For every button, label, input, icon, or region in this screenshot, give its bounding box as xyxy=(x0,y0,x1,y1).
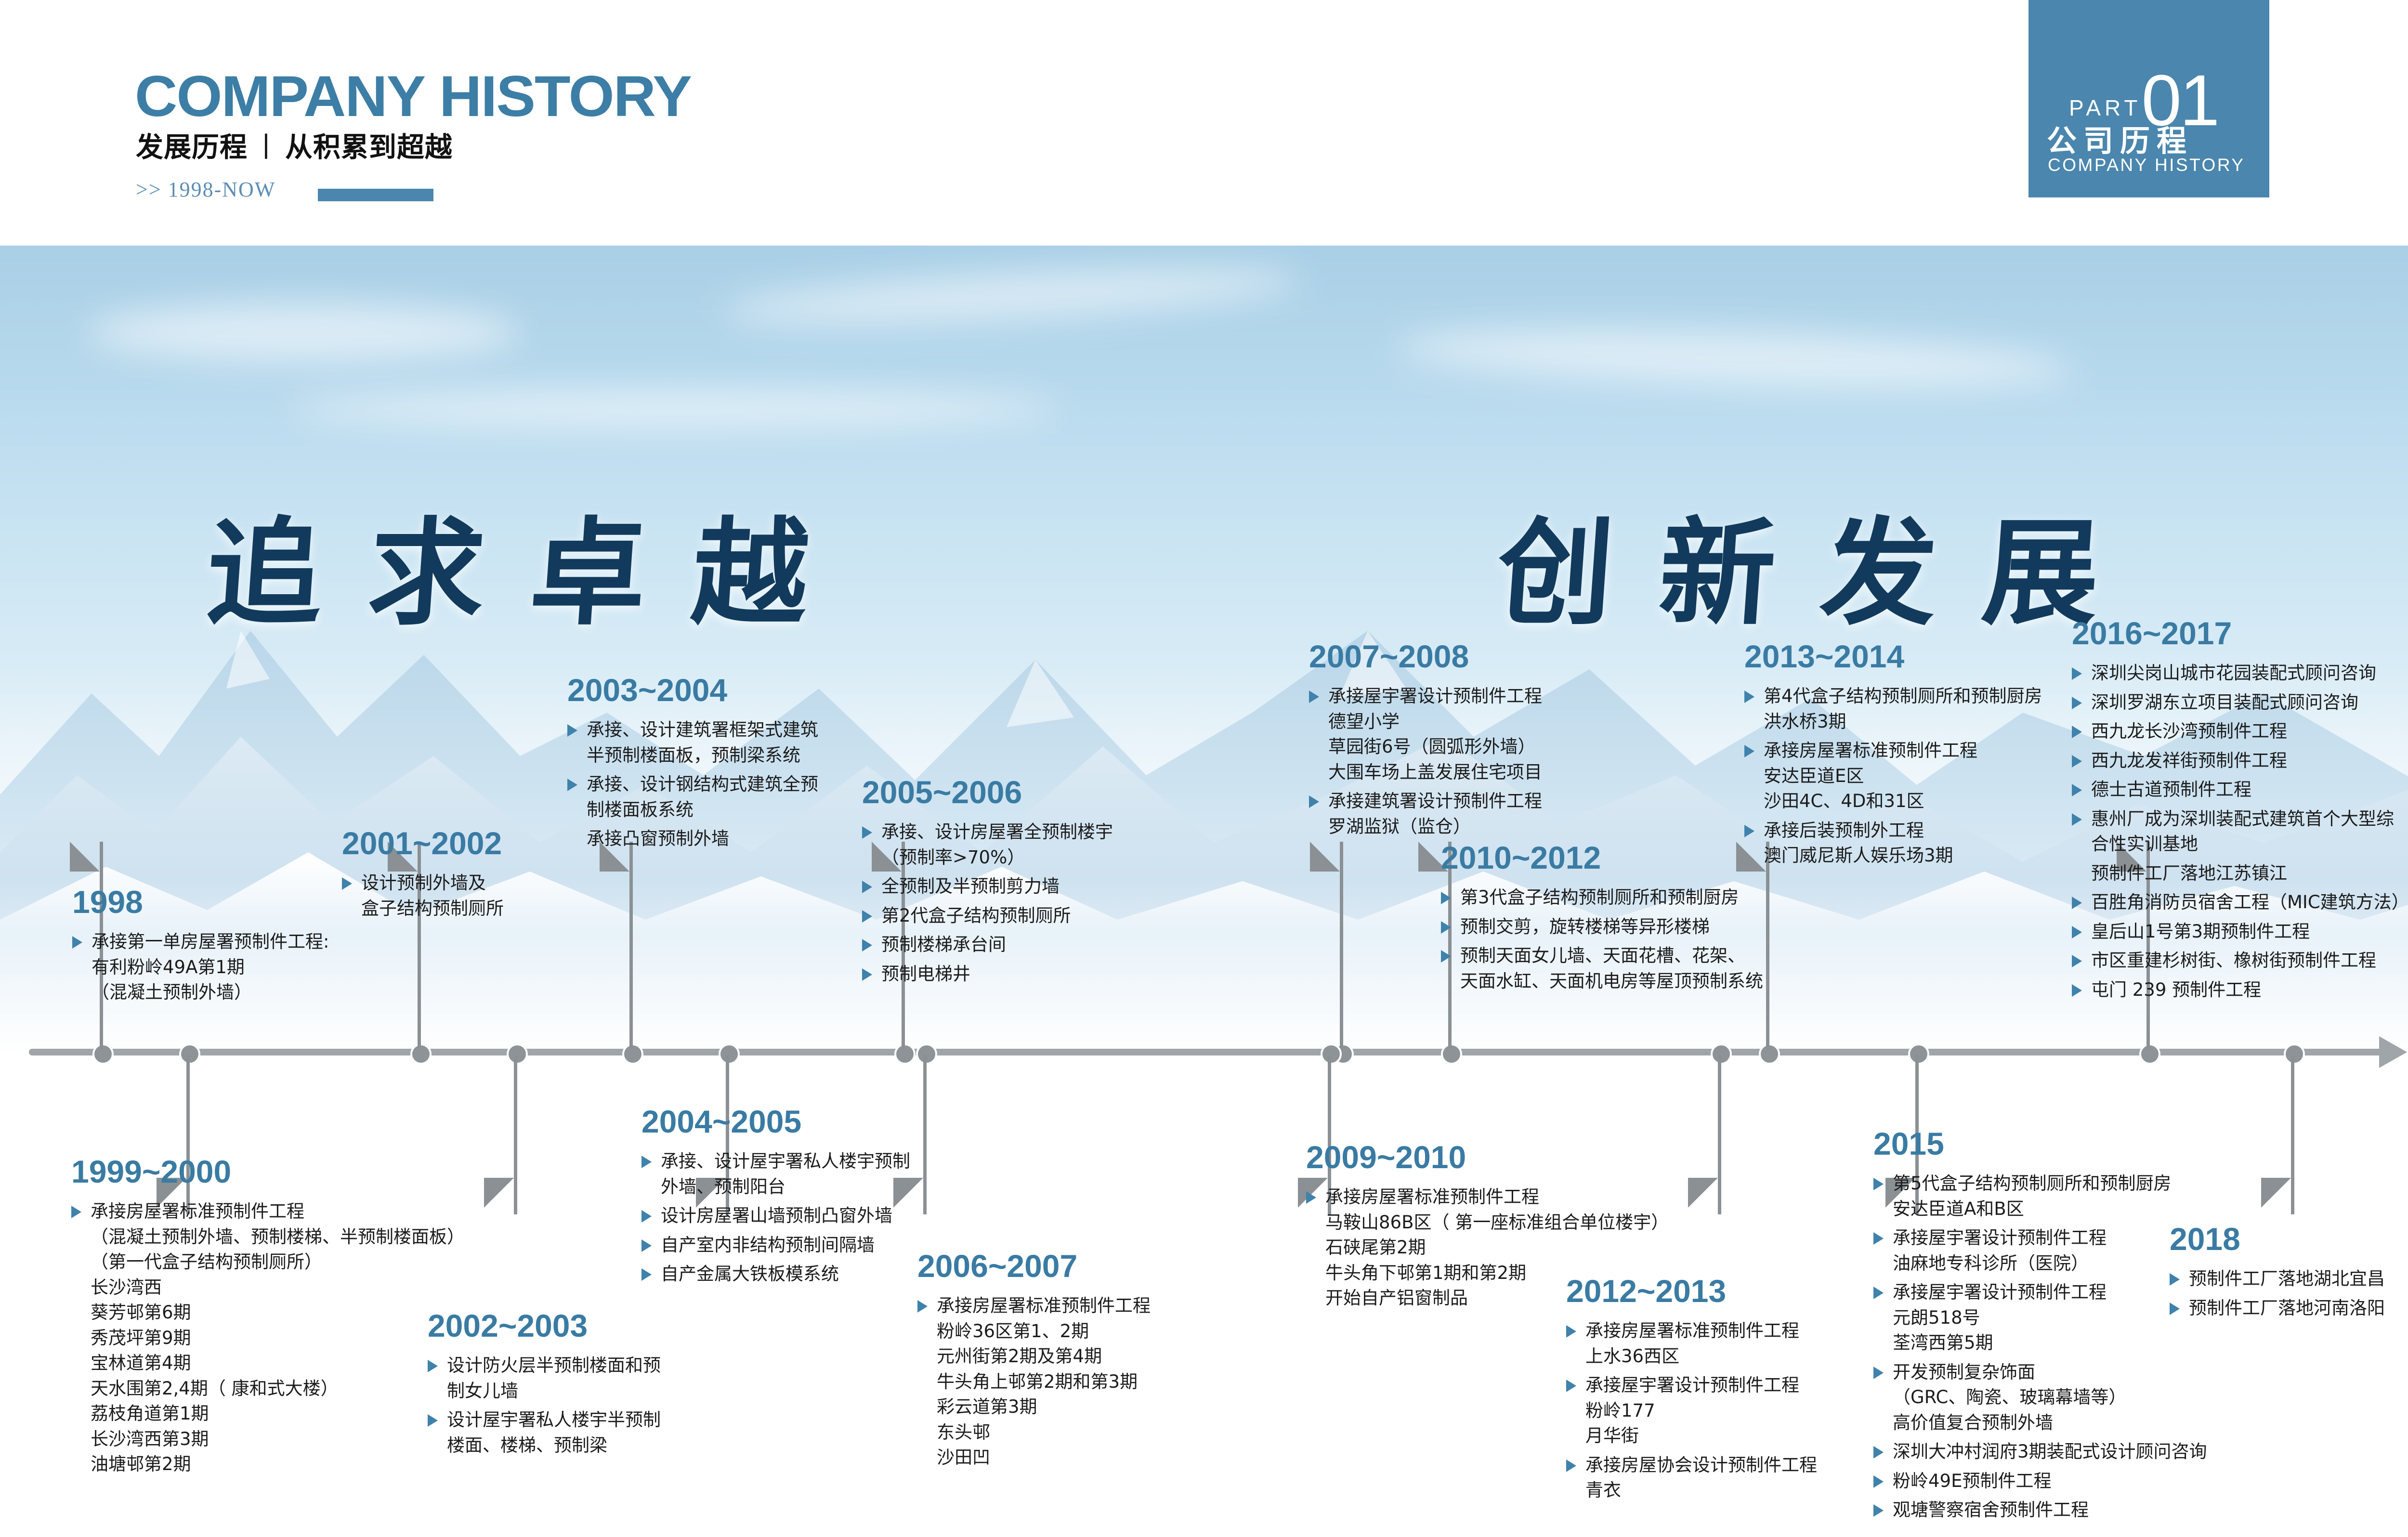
event-bullet-lines: 自产金属大铁板模系统 xyxy=(641,1262,910,1287)
event-bullet-lines: 设计预制外墙及盒子结构预制厕所 xyxy=(342,871,504,921)
event-text-line: 上水36西区 xyxy=(1585,1344,1817,1369)
event-bullet-item: 第4代盒子结构预制厕所和预制厨房洪水桥3期 xyxy=(1744,684,2042,734)
event-year-label: 1998 xyxy=(72,886,329,918)
timeline-node-2001-2002[interactable] xyxy=(410,1043,432,1065)
event-text-line: 屯门 239 预制件工程 xyxy=(2091,977,2408,1003)
event-text-line: 承接房屋协会设计预制件工程 xyxy=(1585,1453,1817,1478)
event-text-line: 合性实训基地 xyxy=(2091,832,2408,857)
event-text-line: 承接屋宇署设计预制件工程 xyxy=(1328,684,1542,709)
timeline-node-2012-2013[interactable] xyxy=(1711,1043,1732,1065)
event-bullet-lines: 第4代盒子结构预制厕所和预制厨房洪水桥3期 xyxy=(1744,684,2042,734)
event-text-line: 承接房屋署标准预制件工程 xyxy=(91,1199,465,1224)
event-text-line: 承接屋宇署设计预制件工程 xyxy=(1893,1225,2207,1251)
triangle-bullet-icon xyxy=(342,877,352,890)
event-bullet-lines: 预制件工厂落地湖北宜昌 xyxy=(2170,1266,2385,1292)
timeline-event-2001-2002[interactable]: 2001~2002设计预制外墙及盒子结构预制厕所 xyxy=(342,827,504,925)
event-text-line: 承接后装预制外工程 xyxy=(1764,818,2042,844)
event-text-line: 惠州厂成为深圳装配式建筑首个大型综 xyxy=(2091,807,2408,832)
event-text-line: 半预制楼面板，预制梁系统 xyxy=(587,743,818,768)
triangle-bullet-icon xyxy=(1566,1459,1576,1472)
timeline-node-2006-2007[interactable] xyxy=(916,1043,937,1065)
event-text-line: 高价值复合预制外墙 xyxy=(1893,1410,2207,1436)
cloud-shape xyxy=(289,390,1060,429)
event-bullet-lines: 第2代盒子结构预制厕所 xyxy=(862,903,1113,929)
event-bullet-lines: 百胜角消防员宿舍工程（MIC建筑方法） xyxy=(2072,890,2408,915)
event-text-line: 元州街第2期及第4期 xyxy=(937,1344,1151,1369)
event-bullet-item: 承接房屋署标准预制件工程粉岭36区第1、2期元州街第2期及第4期牛头角上邨第2期… xyxy=(917,1293,1151,1471)
event-bullet-item: 承接建筑署设计预制件工程罗湖监狱（监仓） xyxy=(1309,789,1542,839)
triangle-bullet-icon xyxy=(1441,892,1451,904)
event-bullet-lines: 自产室内非结构预制间隔墙 xyxy=(641,1233,910,1258)
event-text-line: 设计屋宇署私人楼宇半预制 xyxy=(447,1407,661,1433)
event-text-line: 荔枝角道第1期 xyxy=(91,1401,465,1427)
timeline-event-1999-2000[interactable]: 1999~2000承接房屋署标准预制件工程（混凝土预制外墙、预制楼梯、半预制楼面… xyxy=(71,1156,465,1481)
event-bullet-list: 承接屋宇署设计预制件工程德望小学草园街6号（圆弧形外墙）大围车场上盖发展住宅项目… xyxy=(1309,684,1542,839)
timeline-flag-marker xyxy=(70,842,100,872)
event-text-line: 沙田凹 xyxy=(937,1445,1151,1471)
event-bullet-item: 深圳尖岗山城市花园装配式顾问咨询 xyxy=(2072,661,2408,686)
timeline-node-2016-2017[interactable] xyxy=(2139,1043,2160,1065)
event-text-line: 自产室内非结构预制间隔墙 xyxy=(661,1233,910,1258)
event-text-line: （第一代盒子结构预制厕所） xyxy=(91,1250,465,1275)
event-year-label: 2009~2010 xyxy=(1306,1141,1669,1173)
event-bullet-item: 预制件工厂落地湖北宜昌 xyxy=(2170,1266,2385,1292)
triangle-bullet-icon xyxy=(641,1210,652,1223)
event-bullet-lines: 全预制及半预制剪力墙 xyxy=(862,874,1113,899)
event-year-label: 1999~2000 xyxy=(71,1156,465,1187)
event-year-label: 2018 xyxy=(2170,1223,2385,1255)
event-text-line: 德士古道预制件工程 xyxy=(2091,777,2408,803)
event-bullet-item: 预制天面女儿墙、天面花槽、花架、天面水缸、天面机电房等屋顶预制系统 xyxy=(1441,943,1763,994)
title-rule-bar xyxy=(318,189,433,201)
event-text-line: 石硖尾第2期 xyxy=(1325,1235,1669,1261)
event-bullet-lines: 深圳大冲村润府3期装配式设计顾问咨询 xyxy=(1873,1439,2207,1465)
event-bullet-item: 西九龙长沙湾预制件工程 xyxy=(2072,719,2408,744)
timeline-leader-line xyxy=(1340,842,1343,1049)
event-bullet-item: 自产室内非结构预制间隔墙 xyxy=(641,1233,910,1258)
event-text-line: （预制率>70%） xyxy=(881,845,1113,871)
timeline-leader-line xyxy=(1766,842,1769,1049)
timeline-node-2015[interactable] xyxy=(1908,1043,1929,1065)
event-text-line: 开发预制复杂饰面 xyxy=(1893,1360,2207,1385)
event-bullet-item: 皇后山1号第3期预制件工程 xyxy=(2072,919,2408,945)
event-text-line: 承接屋宇署设计预制件工程 xyxy=(1585,1373,1817,1398)
event-bullet-item: 粉岭49E预制件工程 xyxy=(1873,1469,2207,1494)
event-text-line: 承接房屋署标准预制件工程 xyxy=(1585,1318,1817,1344)
date-range-label: >> 1998-NOW xyxy=(136,179,275,200)
event-bullet-list: 第4代盒子结构预制厕所和预制厨房洪水桥3期承接房屋署标准预制件工程安达臣道E区沙… xyxy=(1744,684,2042,869)
event-text-line: 西九龙发祥街预制件工程 xyxy=(2091,748,2408,774)
event-bullet-lines: 预制件工厂落地江苏镇江 xyxy=(2072,861,2408,886)
timeline-event-1998[interactable]: 1998承接第一单房屋署预制件工程:有利粉岭49A第1期（混凝土预制外墙） xyxy=(72,886,329,1009)
event-bullet-item: 承接房屋署标准预制件工程上水36西区 xyxy=(1566,1318,1817,1369)
timeline-node-1999-2000[interactable] xyxy=(179,1043,200,1065)
calligraphy-right: 创新发展 xyxy=(1498,515,2145,631)
event-bullet-item: 第5代盒子结构预制厕所和预制厨房安达臣道A和B区 xyxy=(1873,1171,2207,1222)
event-text-line: （GRC、陶瓷、玻璃幕墙等） xyxy=(1893,1385,2207,1410)
event-bullet-item: 承接、设计建筑署框架式建筑半预制楼面板，预制梁系统 xyxy=(567,717,818,768)
event-bullet-lines: 西九龙发祥街预制件工程 xyxy=(2072,748,2408,774)
event-bullet-item: 市区重建杉树街、橡树街预制件工程 xyxy=(2072,948,2408,974)
calligraphy-glyph: 卓 xyxy=(527,515,651,631)
calligraphy-glyph: 求 xyxy=(365,515,489,631)
event-bullet-lines: 预制楼梯承台间 xyxy=(862,932,1113,958)
triangle-bullet-icon xyxy=(1873,1367,1884,1379)
event-bullet-list: 预制件工厂落地湖北宜昌预制件工厂落地河南洛阳 xyxy=(2170,1266,2385,1321)
event-text-line: 彩云道第3期 xyxy=(937,1394,1151,1420)
triangle-bullet-icon xyxy=(1873,1475,1884,1488)
event-text-line: 承接、设计房屋署全预制楼宇 xyxy=(881,820,1113,845)
event-text-line: 承接房屋署标准预制件工程 xyxy=(1764,738,2042,764)
event-bullet-item: 设计房屋署山墙预制凸窗外墙 xyxy=(641,1203,910,1229)
event-text-line: 深圳罗湖东立项目装配式顾问咨询 xyxy=(2091,690,2408,716)
event-year-label: 2015 xyxy=(1873,1128,2207,1159)
event-bullet-lines: 承接、设计屋宇署私人楼宇预制外墙、预制阳台 xyxy=(641,1149,910,1199)
part-badge: PART 01 公司历程 COMPANY HISTORY xyxy=(2028,0,2269,197)
triangle-bullet-icon xyxy=(862,968,872,981)
event-text-line: 楼面、楼梯、预制梁 xyxy=(447,1433,661,1459)
triangle-bullet-icon xyxy=(1441,921,1451,934)
timeline-event-2012-2013[interactable]: 2012~2013承接房屋署标准预制件工程上水36西区承接屋宇署设计预制件工程粉… xyxy=(1566,1275,1817,1507)
event-text-line: 油塘邨第2期 xyxy=(91,1452,465,1477)
triangle-bullet-icon xyxy=(2072,813,2082,826)
triangle-bullet-icon xyxy=(2170,1273,2180,1286)
event-bullet-lines: 设计房屋署山墙预制凸窗外墙 xyxy=(641,1203,910,1229)
timeline-event-2003-2004[interactable]: 2003~2004承接、设计建筑署框架式建筑半预制楼面板，预制梁系统承接、设计钢… xyxy=(567,674,818,856)
event-bullet-item: 预制件工厂落地河南洛阳 xyxy=(2170,1296,2385,1321)
event-bullet-item: 承接屋宇署设计预制件工程德望小学草园街6号（圆弧形外墙）大围车场上盖发展住宅项目 xyxy=(1309,684,1542,785)
event-text-line: 长沙湾西第3期 xyxy=(91,1427,465,1452)
event-text-line: 深圳尖岗山城市花园装配式顾问咨询 xyxy=(2091,661,2408,686)
event-bullet-lines: 第5代盒子结构预制厕所和预制厨房安达臣道A和B区 xyxy=(1873,1171,2207,1222)
event-text-line: 草园街6号（圆弧形外墙） xyxy=(1328,734,1542,760)
event-bullet-lines: 设计屋宇署私人楼宇半预制楼面、楼梯、预制梁 xyxy=(428,1407,661,1458)
event-bullet-item: 开发预制复杂饰面（GRC、陶瓷、玻璃幕墙等）高价值复合预制外墙 xyxy=(1873,1360,2207,1436)
triangle-bullet-icon xyxy=(2072,784,2082,796)
event-bullet-item: 承接屋宇署设计预制件工程油麻地专科诊所（医院） xyxy=(1873,1225,2207,1276)
cloud-shape xyxy=(1396,321,2072,397)
event-text-line: 预制天面女儿墙、天面花槽、花架、 xyxy=(1460,943,1763,969)
event-text-line: 制女儿墙 xyxy=(447,1379,661,1404)
triangle-bullet-icon xyxy=(2072,667,2082,680)
event-bullet-item: 设计预制外墙及盒子结构预制厕所 xyxy=(342,871,504,921)
event-bullet-item: 第3代盒子结构预制厕所和预制厨房 xyxy=(1441,885,1763,911)
event-bullet-lines: 预制天面女儿墙、天面花槽、花架、天面水缸、天面机电房等屋顶预制系统 xyxy=(1441,943,1763,994)
event-bullet-item: 预制件工厂落地江苏镇江 xyxy=(2072,861,2408,886)
event-bullet-lines: 观塘警察宿舍预制件工程 xyxy=(1873,1498,2207,1523)
timeline-node-2018[interactable] xyxy=(2284,1043,2305,1065)
timeline-event-2018[interactable]: 2018预制件工厂落地湖北宜昌预制件工厂落地河南洛阳 xyxy=(2170,1223,2385,1325)
timeline-event-2002-2003[interactable]: 2002~2003设计防火层半预制楼面和预制女儿墙设计屋宇署私人楼宇半预制楼面、… xyxy=(428,1310,661,1462)
triangle-bullet-icon xyxy=(428,1414,438,1427)
event-year-label: 2010~2012 xyxy=(1441,842,1763,873)
timeline-node-2003-2004[interactable] xyxy=(622,1043,643,1065)
event-bullet-lines: 承接屋宇署设计预制件工程元朗518号荃湾西第5期 xyxy=(1873,1280,2207,1356)
timeline-node-2009-2010[interactable] xyxy=(1321,1043,1342,1065)
event-bullet-list: 承接房屋署标准预制件工程上水36西区承接屋宇署设计预制件工程粉岭177月华街承接… xyxy=(1566,1318,1817,1503)
event-text-line: （混凝土预制外墙、预制楼梯、半预制楼面板） xyxy=(91,1224,465,1250)
timeline-node-1998[interactable] xyxy=(92,1043,114,1065)
event-bullet-lines: 市区重建杉树街、橡树街预制件工程 xyxy=(2072,948,2408,974)
event-year-label: 2005~2006 xyxy=(862,776,1113,808)
triangle-bullet-icon xyxy=(1744,825,1754,837)
triangle-bullet-icon xyxy=(567,724,577,737)
event-text-line: 预制楼梯承台间 xyxy=(881,932,1113,958)
part-title-en: COMPANY HISTORY xyxy=(2048,155,2245,175)
calligraphy-glyph: 发 xyxy=(1818,515,1941,631)
event-year-label: 2006~2007 xyxy=(917,1250,1151,1282)
triangle-bullet-icon xyxy=(1309,690,1319,703)
calligraphy-glyph: 越 xyxy=(689,515,812,631)
triangle-bullet-icon xyxy=(1744,690,1754,703)
event-bullet-lines: 承接屋宇署设计预制件工程粉岭177月华街 xyxy=(1566,1373,1817,1449)
triangle-bullet-icon xyxy=(862,826,872,839)
timeline-node-2002-2003[interactable] xyxy=(507,1043,528,1065)
event-text-line: 观塘警察宿舍预制件工程 xyxy=(1893,1498,2207,1523)
timeline-event-2005-2006[interactable]: 2005~2006承接、设计房屋署全预制楼宇（预制率>70%）全预制及半预制剪力… xyxy=(862,776,1113,990)
event-text-line: 油麻地专科诊所（医院） xyxy=(1893,1251,2207,1276)
event-text-line: 安达臣道E区 xyxy=(1764,764,2042,789)
triangle-bullet-icon xyxy=(641,1239,652,1252)
event-text-line: 承接、设计钢结构式建筑全预 xyxy=(587,772,818,797)
event-bullet-item: 全预制及半预制剪力墙 xyxy=(862,874,1113,899)
timeline-event-2016-2017[interactable]: 2016~2017深圳尖岗山城市花园装配式顾问咨询深圳罗湖东立项目装配式顾问咨询… xyxy=(2072,617,2408,1006)
event-text-line: 百胜角消防员宿舍工程（MIC建筑方法） xyxy=(2091,890,2408,915)
event-bullet-item: 深圳大冲村润府3期装配式设计顾问咨询 xyxy=(1873,1439,2207,1465)
event-bullet-item: 第2代盒子结构预制厕所 xyxy=(862,903,1113,929)
event-bullet-item: 承接第一单房屋署预制件工程:有利粉岭49A第1期（混凝土预制外墙） xyxy=(72,929,329,1005)
event-bullet-item: 承接房屋署标准预制件工程安达臣道E区沙田4C、4D和31区 xyxy=(1744,738,2042,814)
event-bullet-lines: 粉岭49E预制件工程 xyxy=(1873,1469,2207,1494)
event-bullet-list: 承接、设计屋宇署私人楼宇预制外墙、预制阳台设计房屋署山墙预制凸窗外墙自产室内非结… xyxy=(641,1149,910,1287)
event-bullet-item: 西九龙发祥街预制件工程 xyxy=(2072,748,2408,774)
event-text-line: 预制电梯井 xyxy=(881,962,1113,987)
event-bullet-list: 承接房屋署标准预制件工程（混凝土预制外墙、预制楼梯、半预制楼面板）（第一代盒子结… xyxy=(71,1199,465,1477)
event-year-label: 2003~2004 xyxy=(567,674,818,706)
event-text-line: 罗湖监狱（监仓） xyxy=(1328,814,1542,840)
event-bullet-lines: 开发预制复杂饰面（GRC、陶瓷、玻璃幕墙等）高价值复合预制外墙 xyxy=(1873,1360,2207,1436)
triangle-bullet-icon xyxy=(862,910,872,923)
event-year-label: 2001~2002 xyxy=(342,827,504,859)
event-bullet-list: 承接、设计房屋署全预制楼宇（预制率>70%）全预制及半预制剪力墙第2代盒子结构预… xyxy=(862,820,1113,987)
timeline-event-2007-2008[interactable]: 2007~2008承接屋宇署设计预制件工程德望小学草园街6号（圆弧形外墙）大围车… xyxy=(1309,640,1542,843)
event-year-label: 2004~2005 xyxy=(641,1106,910,1137)
event-text-line: 外墙、预制阳台 xyxy=(661,1174,910,1200)
subtitle-right: 从积累到超越 xyxy=(285,132,453,163)
event-bullet-lines: 承接房屋协会设计预制件工程青衣 xyxy=(1566,1453,1817,1503)
triangle-bullet-icon xyxy=(2072,897,2082,909)
event-text-line: 宝林道第4期 xyxy=(91,1351,465,1376)
event-bullet-list: 承接第一单房屋署预制件工程:有利粉岭49A第1期（混凝土预制外墙） xyxy=(72,929,329,1005)
event-text-line: 预制件工厂落地江苏镇江 xyxy=(2091,861,2408,886)
event-bullet-lines: 设计防火层半预制楼面和预制女儿墙 xyxy=(428,1353,661,1404)
event-bullet-lines: 承接房屋署标准预制件工程粉岭36区第1、2期元州街第2期及第4期牛头角上邨第2期… xyxy=(917,1293,1151,1471)
event-bullet-item: 承接后装预制外工程澳门威尼斯人娱乐场3期 xyxy=(1744,818,2042,869)
event-text-line: 洪水桥3期 xyxy=(1764,709,2042,735)
event-text-line: 第5代盒子结构预制厕所和预制厨房 xyxy=(1893,1171,2207,1197)
triangle-bullet-icon xyxy=(1873,1446,1884,1459)
event-bullet-list: 深圳尖岗山城市花园装配式顾问咨询深圳罗湖东立项目装配式顾问咨询西九龙长沙湾预制件… xyxy=(2072,661,2408,1003)
timeline-event-2013-2014[interactable]: 2013~2014第4代盒子结构预制厕所和预制厨房洪水桥3期承接房屋署标准预制件… xyxy=(1744,640,2042,873)
event-bullet-lines: 惠州厂成为深圳装配式建筑首个大型综合性实训基地 xyxy=(2072,807,2408,857)
event-text-line: 预制件工厂落地河南洛阳 xyxy=(2189,1296,2385,1321)
timeline-event-2004-2005[interactable]: 2004~2005承接、设计屋宇署私人楼宇预制外墙、预制阳台设计房屋署山墙预制凸… xyxy=(641,1106,910,1291)
triangle-bullet-icon xyxy=(1306,1191,1316,1204)
event-bullet-list: 设计防火层半预制楼面和预制女儿墙设计屋宇署私人楼宇半预制楼面、楼梯、预制梁 xyxy=(428,1353,661,1458)
event-bullet-item: 屯门 239 预制件工程 xyxy=(2072,977,2408,1003)
triangle-bullet-icon xyxy=(862,939,872,951)
timeline-event-2010-2012[interactable]: 2010~2012第3代盒子结构预制厕所和预制厨房预制交剪，旋转楼梯等异形楼梯预… xyxy=(1441,842,1763,998)
event-text-line: 承接房屋署标准预制件工程 xyxy=(937,1293,1151,1319)
timeline-leader-line xyxy=(629,842,633,1049)
event-bullet-item: 承接、设计屋宇署私人楼宇预制外墙、预制阳台 xyxy=(641,1149,910,1199)
timeline-node-2004-2005[interactable] xyxy=(719,1043,740,1065)
event-text-line: 西九龙长沙湾预制件工程 xyxy=(2091,719,2408,744)
event-text-line: 大围车场上盖发展住宅项目 xyxy=(1328,760,1542,785)
triangle-bullet-icon xyxy=(641,1268,652,1281)
timeline-node-2005-2006[interactable] xyxy=(894,1043,916,1065)
calligraphy-left: 追求卓越 xyxy=(207,515,854,631)
timeline-event-2015[interactable]: 2015第5代盒子结构预制厕所和预制厨房安达臣道A和B区承接屋宇署设计预制件工程… xyxy=(1873,1128,2207,1527)
timeline-event-2006-2007[interactable]: 2006~2007承接房屋署标准预制件工程粉岭36区第1、2期元州街第2期及第4… xyxy=(917,1250,1151,1474)
event-bullet-lines: 承接、设计房屋署全预制楼宇（预制率>70%） xyxy=(862,820,1113,870)
part-title-cn: 公司历程 xyxy=(2047,117,2193,160)
event-text-line: 粉岭177 xyxy=(1585,1398,1817,1424)
timeline-node-2010-2012[interactable] xyxy=(1441,1043,1462,1065)
event-bullet-list: 第5代盒子结构预制厕所和预制厨房安达臣道A和B区承接屋宇署设计预制件工程油麻地专… xyxy=(1873,1171,2207,1523)
timeline-leader-line xyxy=(514,1055,517,1214)
triangle-bullet-icon xyxy=(1873,1504,1884,1517)
event-bullet-list: 设计预制外墙及盒子结构预制厕所 xyxy=(342,871,504,921)
event-text-line: （混凝土预制外墙） xyxy=(92,980,329,1005)
triangle-bullet-icon xyxy=(641,1156,652,1168)
event-text-line: 市区重建杉树街、橡树街预制件工程 xyxy=(2091,948,2408,974)
timeline-flag-marker xyxy=(2261,1178,2291,1208)
timeline-node-2013-2014[interactable] xyxy=(1759,1043,1780,1065)
event-text-line: 皇后山1号第3期预制件工程 xyxy=(2091,919,2408,945)
cloud-shape xyxy=(721,260,1301,333)
event-bullet-item: 惠州厂成为深圳装配式建筑首个大型综合性实训基地 xyxy=(2072,807,2408,857)
calligraphy-glyph: 追 xyxy=(203,515,327,631)
event-text-line: 天面水缸、天面机电房等屋顶预制系统 xyxy=(1460,969,1763,994)
event-bullet-list: 承接房屋署标准预制件工程粉岭36区第1、2期元州街第2期及第4期牛头角上邨第2期… xyxy=(917,1293,1151,1471)
event-text-line: 马鞍山86B区（ 第一座标准组合单位楼宇） xyxy=(1325,1210,1669,1236)
triangle-bullet-icon xyxy=(2072,755,2082,768)
event-text-line: 粉岭49E预制件工程 xyxy=(1893,1469,2207,1494)
event-text-line: 沙田4C、4D和31区 xyxy=(1764,789,2042,814)
triangle-bullet-icon xyxy=(2170,1303,2180,1315)
event-bullet-item: 承接、设计房屋署全预制楼宇（预制率>70%） xyxy=(862,820,1113,870)
event-bullet-list: 第3代盒子结构预制厕所和预制厨房预制交剪，旋转楼梯等异形楼梯预制天面女儿墙、天面… xyxy=(1441,885,1763,994)
event-bullet-lines: 德士古道预制件工程 xyxy=(2072,777,2408,803)
event-text-line: 盒子结构预制厕所 xyxy=(361,896,504,922)
event-text-line: 承接、设计屋宇署私人楼宇预制 xyxy=(661,1149,910,1174)
event-text-line: 青衣 xyxy=(1585,1478,1817,1503)
event-bullet-lines: 预制件工厂落地河南洛阳 xyxy=(2170,1296,2385,1321)
event-bullet-lines: 承接屋宇署设计预制件工程油麻地专科诊所（医院） xyxy=(1873,1225,2207,1276)
event-bullet-lines: 承接房屋署标准预制件工程（混凝土预制外墙、预制楼梯、半预制楼面板）（第一代盒子结… xyxy=(71,1199,465,1477)
event-bullet-lines: 承接建筑署设计预制件工程罗湖监狱（监仓） xyxy=(1309,789,1542,839)
event-bullet-item: 承接房屋协会设计预制件工程青衣 xyxy=(1566,1453,1817,1503)
event-text-line: 全预制及半预制剪力墙 xyxy=(881,874,1113,899)
event-bullet-lines: 承接第一单房屋署预制件工程:有利粉岭49A第1期（混凝土预制外墙） xyxy=(72,929,329,1005)
event-bullet-item: 设计屋宇署私人楼宇半预制楼面、楼梯、预制梁 xyxy=(428,1407,661,1458)
event-text-line: 承接建筑署设计预制件工程 xyxy=(1328,789,1542,814)
triangle-bullet-icon xyxy=(1441,950,1451,963)
event-text-line: 荃湾西第5期 xyxy=(1893,1330,2207,1356)
event-text-line: 承接第一单房屋署预制件工程: xyxy=(92,929,329,955)
event-text-line: 第3代盒子结构预制厕所和预制厨房 xyxy=(1460,885,1763,911)
event-bullet-lines: 承接房屋署标准预制件工程上水36西区 xyxy=(1566,1318,1817,1369)
event-bullet-lines: 承接房屋署标准预制件工程安达臣道E区沙田4C、4D和31区 xyxy=(1744,738,2042,814)
event-bullet-item: 设计防火层半预制楼面和预制女儿墙 xyxy=(428,1353,661,1404)
event-bullet-lines: 承接屋宇署设计预制件工程德望小学草园街6号（圆弧形外墙）大围车场上盖发展住宅项目 xyxy=(1309,684,1542,785)
triangle-bullet-icon xyxy=(1566,1380,1576,1392)
event-bullet-lines: 承接后装预制外工程澳门威尼斯人娱乐场3期 xyxy=(1744,818,2042,869)
triangle-bullet-icon xyxy=(2072,697,2082,709)
triangle-bullet-icon xyxy=(1873,1287,1884,1299)
event-year-label: 2013~2014 xyxy=(1744,640,2042,672)
event-text-line: 设计预制外墙及 xyxy=(361,871,504,896)
event-bullet-lines: 西九龙长沙湾预制件工程 xyxy=(2072,719,2408,744)
triangle-bullet-icon xyxy=(2072,726,2082,738)
event-bullet-lines: 承接、设计钢结构式建筑全预制楼面板系统 xyxy=(567,772,818,822)
event-bullet-lines: 预制电梯井 xyxy=(862,962,1113,987)
event-text-line: 承接屋宇署设计预制件工程 xyxy=(1893,1280,2207,1305)
event-year-label: 2012~2013 xyxy=(1566,1275,1817,1307)
event-text-line: 自产金属大铁板模系统 xyxy=(661,1262,910,1287)
event-bullet-lines: 皇后山1号第3期预制件工程 xyxy=(2072,919,2408,945)
triangle-bullet-icon xyxy=(2072,984,2082,997)
event-text-line: 预制交剪，旋转楼梯等异形楼梯 xyxy=(1460,914,1763,940)
event-text-line: 月华街 xyxy=(1585,1423,1817,1449)
triangle-bullet-icon xyxy=(2072,926,2082,938)
subtitle-left: 发展历程 xyxy=(136,132,248,163)
event-text-line: 设计防火层半预制楼面和预 xyxy=(447,1353,661,1379)
timeline-leader-line xyxy=(1718,1055,1721,1214)
calligraphy-glyph: 新 xyxy=(1656,515,1780,631)
event-text-line: 第2代盒子结构预制厕所 xyxy=(881,903,1113,929)
triangle-bullet-icon xyxy=(1566,1325,1576,1338)
event-text-line: 第4代盒子结构预制厕所和预制厨房 xyxy=(1764,684,2042,709)
triangle-bullet-icon xyxy=(2072,955,2082,967)
event-bullet-lines: 屯门 239 预制件工程 xyxy=(2072,977,2408,1003)
event-text-line: 东头邨 xyxy=(937,1420,1151,1446)
event-text-line: 牛头角上邨第2期和第3期 xyxy=(937,1369,1151,1395)
triangle-bullet-icon xyxy=(71,1206,81,1218)
event-bullet-lines: 深圳罗湖东立项目装配式顾问咨询 xyxy=(2072,690,2408,716)
triangle-bullet-icon xyxy=(428,1360,438,1372)
triangle-bullet-icon xyxy=(567,779,577,791)
triangle-bullet-icon xyxy=(1744,745,1754,757)
event-bullet-item: 承接屋宇署设计预制件工程元朗518号荃湾西第5期 xyxy=(1873,1280,2207,1356)
calligraphy-glyph: 展 xyxy=(1979,515,2103,631)
event-bullet-lines: 承接凸窗预制外墙 xyxy=(567,826,818,852)
triangle-bullet-icon xyxy=(862,881,872,893)
timeline-flag-marker xyxy=(1688,1178,1718,1208)
event-text-line: 承接房屋署标准预制件工程 xyxy=(1325,1185,1669,1210)
event-year-label: 2002~2003 xyxy=(428,1310,661,1342)
timeline-flag-marker xyxy=(893,1178,923,1208)
event-text-line: 预制件工厂落地湖北宜昌 xyxy=(2189,1266,2385,1292)
event-text-line: 深圳大冲村润府3期装配式设计顾问咨询 xyxy=(1893,1439,2207,1465)
event-text-line: 葵芳邨第6期 xyxy=(91,1300,465,1326)
event-bullet-lines: 深圳尖岗山城市花园装配式顾问咨询 xyxy=(2072,661,2408,686)
triangle-bullet-icon xyxy=(72,936,82,949)
cloud-shape xyxy=(87,303,520,361)
triangle-bullet-icon xyxy=(917,1300,928,1313)
event-bullet-lines: 承接、设计建筑署框架式建筑半预制楼面板，预制梁系统 xyxy=(567,717,818,768)
